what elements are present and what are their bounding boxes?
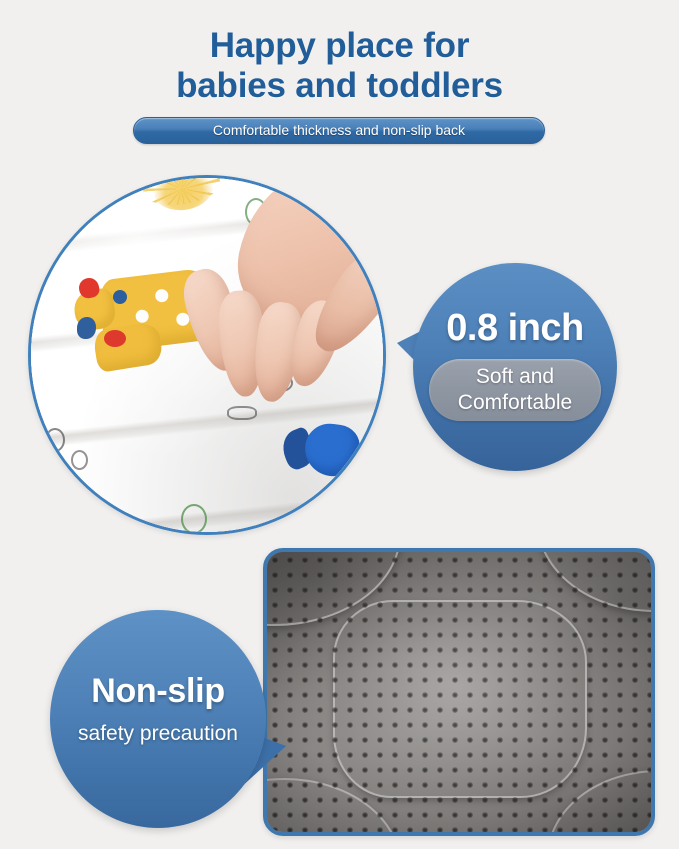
comfort-pill-line-1: Soft and <box>429 364 601 390</box>
subtitle-banner-label: Comfortable thickness and non-slip back <box>134 118 544 143</box>
page-title: Happy place for babies and toddlers <box>0 26 679 106</box>
print-doodle <box>71 450 88 470</box>
thickness-callout-badge: 0.8 inch Soft and Comfortable <box>413 263 617 471</box>
comfort-pill: Soft and Comfortable <box>429 359 601 421</box>
crown-dot <box>155 288 169 302</box>
comfort-pill-line-2: Comfortable <box>429 390 601 416</box>
headline-line-1: Happy place for <box>0 26 679 66</box>
print-doodle <box>45 428 65 452</box>
red-accent-shape <box>104 330 126 347</box>
headline-line-2: babies and toddlers <box>0 66 679 106</box>
blue-accent-shape <box>113 290 127 304</box>
print-doodle <box>181 504 207 534</box>
fabric-vignette <box>267 552 651 832</box>
crown-dot <box>135 309 149 323</box>
subtitle-banner: Comfortable thickness and non-slip back <box>133 117 545 144</box>
blue-accent-shape <box>77 317 96 339</box>
nonslip-callout-badge: Non-slip safety precaution <box>50 610 266 828</box>
thickness-value: 0.8 inch <box>413 307 617 350</box>
mattress-surface-photo <box>28 175 386 535</box>
nonslip-subtitle: safety precaution <box>50 722 266 746</box>
nonslip-backing-photo <box>263 548 655 836</box>
comfort-pill-text: Soft and Comfortable <box>429 359 601 416</box>
callout-bubble <box>50 610 266 828</box>
nonslip-title: Non-slip <box>50 672 266 711</box>
